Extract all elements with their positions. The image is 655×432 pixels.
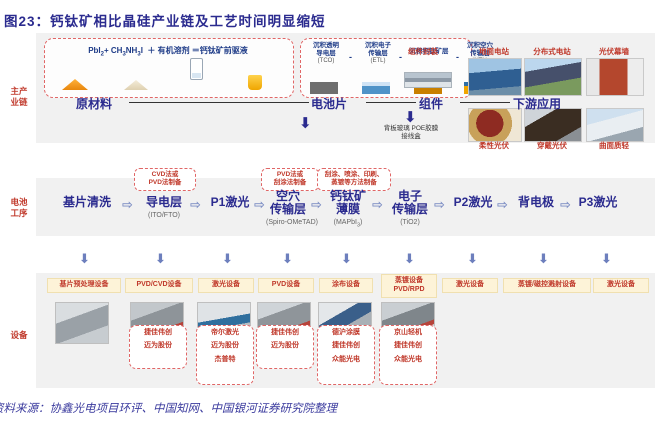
- equipment-arrow-8-icon: ⬇: [538, 252, 549, 265]
- equipment-tag-pvd-cvd: PVD/CVD设备: [125, 278, 193, 293]
- row-label-process-line1: 电池: [4, 197, 34, 208]
- process-arrow-3: ⇨: [254, 198, 265, 211]
- process-annotation-coating-methods-line2: 蒸镀等方法制备: [321, 179, 387, 187]
- company-box-2-line1: 帝尔激光: [197, 326, 253, 339]
- process-step-back-electrode-label: 背电极: [512, 196, 560, 209]
- orange-powder-icon: [62, 79, 88, 90]
- module-material-note-line2: 接线盒: [401, 133, 421, 140]
- downstream-label-wearable: 穿戴光伏: [524, 140, 580, 151]
- process-step-p2-laser: P2激光: [449, 196, 497, 209]
- company-box-5: 京山轻机 捷佳伟创 众能光电: [379, 325, 437, 385]
- process-step-etl-line2: 传输层: [388, 203, 432, 216]
- chain-node-downstream: 下游应用: [513, 95, 561, 112]
- process-step-p3-laser: P3激光: [574, 196, 622, 209]
- module-material-note: 背板玻璃 POE胶膜 接线盒: [371, 125, 451, 142]
- cream-powder-icon: [124, 80, 148, 90]
- process-step-perovskite-film: 钙钛矿 薄膜 (MAPbI3): [326, 190, 370, 229]
- industry-chain-row: 原材料 电池片 组件 下游应用: [36, 92, 655, 122]
- chain-line-2: [366, 102, 416, 103]
- row-label-chain-line2: 业链: [4, 97, 34, 108]
- substrate-pretreatment-equipment-photo: [55, 302, 109, 344]
- company-box-3-line2: 迈为股份: [257, 339, 313, 352]
- module-package-label: 组件封装: [408, 46, 438, 57]
- equipment-arrow-2-icon: ⬇: [155, 252, 166, 265]
- process-step-conductive-layer: 导电层 (ITO/FTO): [140, 196, 188, 220]
- process-arrow-6: ⇨: [434, 198, 445, 211]
- deposition-step-etl-line2: 传输层: [356, 50, 400, 58]
- process-annotation-pvd-blade-line2: 刮涂法制备: [265, 179, 315, 187]
- process-arrow-1: ⇨: [122, 198, 133, 211]
- process-step-p2-laser-label: P2激光: [449, 196, 497, 209]
- deposition-separator-1: -: [349, 52, 352, 62]
- process-arrow-8: ⇨: [560, 198, 571, 211]
- process-step-htl-line2: 传输层: [266, 203, 310, 216]
- module-package-icon: [404, 72, 452, 88]
- deposition-step-tco: 沉积透明 导电层 (TCO): [304, 42, 348, 66]
- pv-curtain-wall-photo: [586, 58, 644, 96]
- value-chain-diagram: 主产 业链 电池 工序 设备 PbI2+ CH3NH3I ＋ 有机溶剂 ＝钙钛矿…: [0, 30, 655, 390]
- row-label-chain: 主产 业链: [4, 86, 34, 107]
- deposition-step-etl-code: (ETL): [356, 58, 400, 66]
- equipment-tag-laser-1: 激光设备: [198, 278, 254, 293]
- chain-line-1: [129, 102, 309, 103]
- process-step-perovskite-film-line2: 薄膜: [326, 203, 370, 216]
- process-step-conductive-layer-label: 导电层: [140, 196, 188, 209]
- equipment-arrow-7-icon: ⬇: [467, 252, 478, 265]
- process-step-p3-laser-label: P3激光: [574, 196, 622, 209]
- company-box-4: 德沪涂膜 捷佳伟创 众能光电: [317, 325, 375, 385]
- process-step-htl-code: (Spiro-OMeTAD): [266, 219, 310, 227]
- company-box-2: 帝尔激光 迈为股份 杰普特: [196, 325, 254, 385]
- company-box-3: 捷佳伟创 迈为股份: [256, 325, 314, 369]
- process-annotation-cvd-pvd-line2: PVD法制备: [138, 179, 192, 187]
- page-title: 图23：钙钛矿相比晶硅产业链及工艺时间明显缩短: [4, 10, 326, 30]
- process-step-etl: 电子 传输层 (TiO2): [388, 190, 432, 227]
- process-step-etl-code: (TiO2): [388, 219, 432, 227]
- equipment-tag-pvd: PVD设备: [258, 278, 314, 293]
- equipment-arrow-9-icon: ⬇: [601, 252, 612, 265]
- downstream-label-flexible: 柔性光伏: [468, 140, 520, 151]
- process-annotation-coating-methods: 刮涂、喷涂、印刷、 蒸镀等方法制备: [317, 168, 391, 191]
- equipment-arrow-6-icon: ⬇: [404, 252, 415, 265]
- deposition-step-etl: 沉积电子 传输层 (ETL): [356, 42, 400, 66]
- chain-node-module: 组件: [419, 95, 443, 112]
- downstream-label-curved: 曲面质轻: [586, 140, 642, 151]
- downstream-label-ground: 地面电站: [468, 46, 520, 57]
- process-step-back-electrode: 背电极: [512, 196, 560, 209]
- process-annotation-cvd-pvd: CVD法或 PVD法制备: [134, 168, 196, 191]
- company-box-2-line2: 迈为股份: [197, 339, 253, 352]
- company-box-5-line3: 众能光电: [380, 353, 436, 366]
- process-arrow-4: ⇨: [311, 198, 322, 211]
- equipment-tag-laser-3: 激光设备: [593, 278, 649, 293]
- equipment-arrow-1-icon: ⬇: [79, 252, 90, 265]
- deposition-step-tco-code: (TCO): [304, 58, 348, 66]
- equipment-tag-evaporation-label: 蒸镀设备: [395, 277, 423, 284]
- deposition-step-tco-line2: 导电层: [304, 50, 348, 58]
- equipment-arrow-3-icon: ⬇: [222, 252, 233, 265]
- source-note: 资料来源：协鑫光电项目环评、中国知网、中国银河证券研究院整理: [0, 400, 337, 416]
- process-arrow-2: ⇨: [190, 198, 201, 211]
- module-material-note-line1: 背板玻璃 POE胶膜: [384, 125, 439, 132]
- row-label-equipment: 设备: [4, 330, 34, 341]
- process-arrow-7: ⇨: [497, 198, 508, 211]
- row-label-process: 电池 工序: [4, 197, 34, 218]
- process-step-htl: 空穴 传输层 (Spiro-OMeTAD): [266, 190, 310, 227]
- company-box-3-line1: 捷佳伟创: [257, 326, 313, 339]
- company-box-1: 捷佳伟创 迈为股份: [129, 325, 187, 369]
- company-box-4-line1: 德沪涂膜: [318, 326, 374, 339]
- process-step-cleaning-label: 基片清洗: [55, 196, 119, 209]
- equipment-tag-coating: 涂布设备: [319, 278, 373, 293]
- equipment-tag-evaporation: 蒸镀设备 PVD/RPD: [381, 274, 437, 298]
- company-box-5-line2: 捷佳伟创: [380, 339, 436, 352]
- solvent-bottle-icon: [190, 58, 203, 80]
- precursor-formula: PbI2+ CH3NH3I ＋ 有机溶剂 ＝钙钛矿前驱液: [52, 45, 284, 58]
- company-box-4-line2: 捷佳伟创: [318, 339, 374, 352]
- raw-material-icons: [50, 60, 286, 92]
- company-box-1-line1: 捷佳伟创: [130, 326, 186, 339]
- chain-node-raw-materials: 原材料: [76, 95, 112, 112]
- process-step-cleaning: 基片清洗: [55, 196, 119, 209]
- equipment-tag-substrate-pretreatment: 基片预处理设备: [47, 278, 121, 293]
- module-down-arrow-icon: ⬇: [404, 110, 417, 125]
- chain-node-cell: 电池片: [311, 95, 347, 112]
- equipment-tag-laser-2: 激光设备: [442, 278, 498, 293]
- company-box-5-line1: 京山轻机: [380, 326, 436, 339]
- process-annotation-pvd-blade: PVD法或 刮涂法制备: [261, 168, 319, 191]
- ground-power-station-photo: [468, 58, 522, 96]
- precursor-vial-icon: [248, 75, 262, 90]
- equipment-arrow-4-icon: ⬇: [282, 252, 293, 265]
- deposition-step-tco-line1: 沉积透明: [304, 42, 348, 50]
- cell-down-arrow-icon: ⬇: [299, 116, 312, 131]
- company-box-1-line2: 迈为股份: [130, 339, 186, 352]
- process-arrow-5: ⇨: [372, 198, 383, 211]
- deposition-step-etl-line1: 沉积电子: [356, 42, 400, 50]
- downstream-label-distributed: 分布式电站: [524, 46, 580, 57]
- equipment-arrow-5-icon: ⬇: [341, 252, 352, 265]
- company-box-2-line3: 杰普特: [197, 353, 253, 366]
- process-step-conductive-layer-code: (ITO/FTO): [140, 212, 188, 220]
- row-label-process-line2: 工序: [4, 208, 34, 219]
- process-step-perovskite-film-code: (MAPbI3): [326, 219, 370, 228]
- equipment-tag-evaporation-sputtering: 蒸镀/磁控溅射设备: [503, 278, 591, 293]
- company-box-4-line3: 众能光电: [318, 353, 374, 366]
- downstream-label-curtain: 光伏幕墙: [586, 46, 642, 57]
- distributed-power-station-photo: [524, 58, 582, 96]
- equipment-tag-evaporation-sub: PVD/RPD: [384, 286, 434, 295]
- process-step-p1-laser-label: P1激光: [206, 196, 254, 209]
- row-label-chain-line1: 主产: [4, 86, 34, 97]
- chain-line-3: [460, 102, 510, 103]
- process-step-p1-laser: P1激光: [206, 196, 254, 209]
